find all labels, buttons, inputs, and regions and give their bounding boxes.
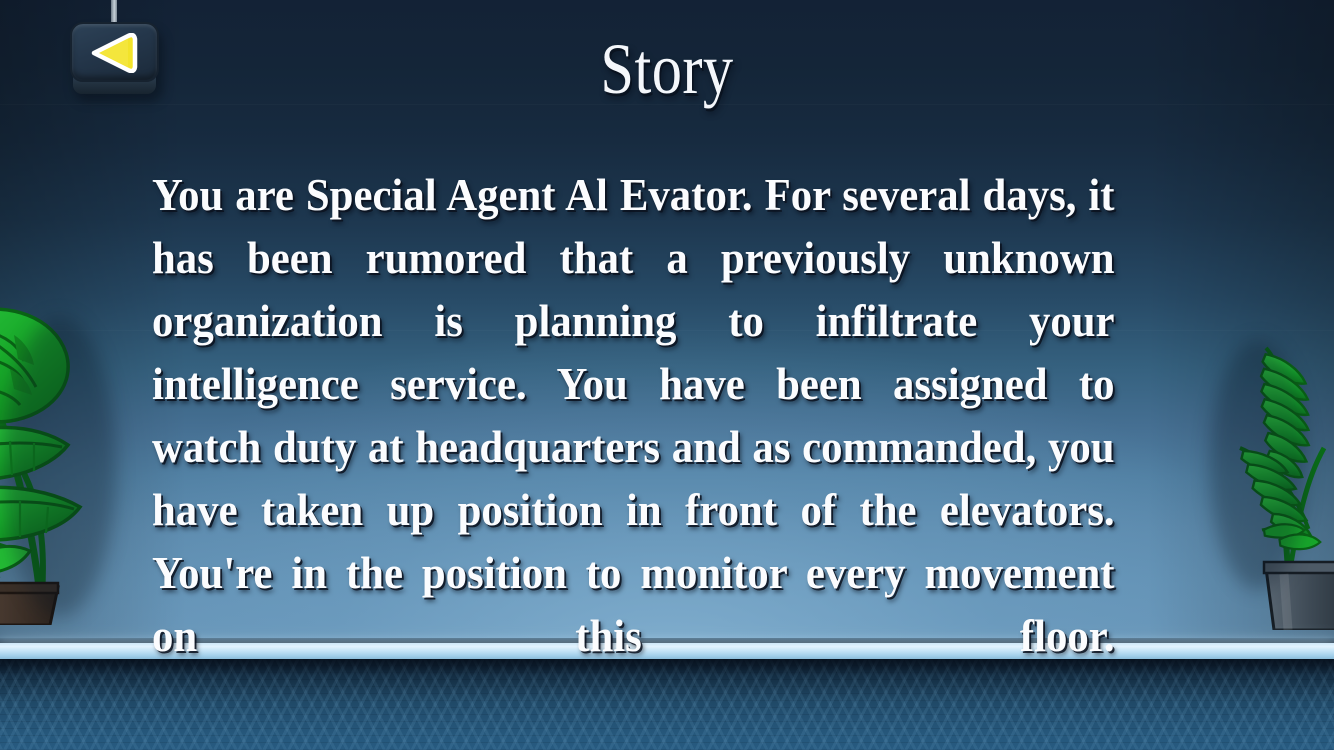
story-body-text: You are Special Agent Al Evator. For sev… [152,163,1115,730]
page-title: Story [107,28,1228,111]
fern-plant [1214,330,1334,630]
story-screen: Story You are Special Agent Al Evator. F… [0,0,1334,750]
story-text-block: You are Special Agent Al Evator. For sev… [152,163,1187,730]
plant-shadow [4,317,116,617]
plant-shadow [1210,340,1306,590]
monstera-plant [0,295,152,625]
